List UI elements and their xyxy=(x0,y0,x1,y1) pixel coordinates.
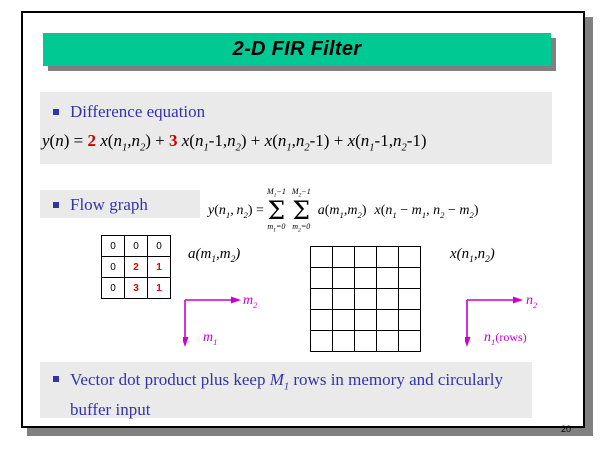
bullet-flow-graph: Flow graph xyxy=(53,194,148,216)
square-bullet-icon xyxy=(53,109,59,115)
square-bullet-icon xyxy=(53,376,59,382)
grid-cell xyxy=(311,310,333,331)
summation-m2: M2−1 Σ m2=0 xyxy=(292,188,311,234)
table-row: 0 2 1 xyxy=(102,257,171,278)
table-row xyxy=(311,268,421,289)
coef-cell: 3 xyxy=(125,278,148,299)
conclusion-var-M: M xyxy=(270,370,284,389)
grid-cell xyxy=(333,310,355,331)
summation-m1: M1−1 Σ m1=0 xyxy=(267,188,286,234)
input-grid-label: x(n1,n2) xyxy=(450,246,495,265)
grid-cell xyxy=(377,289,399,310)
axis-label-n1: n1(rows) xyxy=(484,330,527,347)
coef-cell: 0 xyxy=(148,236,171,257)
title-banner: 2-D FIR Filter xyxy=(43,33,551,66)
grid-cell xyxy=(355,289,377,310)
table-row: 0 3 1 xyxy=(102,278,171,299)
table-row xyxy=(311,310,421,331)
coefficient-grid: 0 0 0 0 2 1 0 3 1 xyxy=(101,235,171,299)
table-row xyxy=(311,289,421,310)
grid-cell xyxy=(355,310,377,331)
input-signal-grid xyxy=(310,246,421,352)
coefficient-a11: 2 xyxy=(87,131,96,150)
coef-cell: 1 xyxy=(148,257,171,278)
table-row: 0 0 0 xyxy=(102,236,171,257)
coefficient-a21: 3 xyxy=(169,131,178,150)
coefficient-grid-label: a(m1,m2) xyxy=(188,246,240,265)
grid-cell xyxy=(333,289,355,310)
axis-label-m1: m1 xyxy=(203,330,217,347)
conclusion-text: Vector dot product plus keep M1 rows in … xyxy=(70,368,522,421)
coef-cell: 0 xyxy=(125,236,148,257)
flow-graph-label: Flow graph xyxy=(70,195,148,215)
arrow-down-icon xyxy=(183,337,189,347)
grid-cell xyxy=(311,289,333,310)
grid-cell xyxy=(333,268,355,289)
sigma-icon: Σ xyxy=(292,199,310,223)
arrow-right-icon xyxy=(513,297,523,304)
grid-cell xyxy=(355,247,377,268)
grid-cell xyxy=(377,310,399,331)
grid-cell xyxy=(399,247,421,268)
coef-cell: 0 xyxy=(102,278,125,299)
coef-cell: 1 xyxy=(148,278,171,299)
sigma-icon: Σ xyxy=(268,199,286,223)
axis-note-rows: (rows) xyxy=(495,330,526,344)
square-bullet-icon xyxy=(53,202,59,208)
arrow-down-icon xyxy=(465,337,471,347)
grid-cell xyxy=(399,289,421,310)
axis-label-n2: n2 xyxy=(526,293,537,310)
bullet-difference-equation: Difference equation xyxy=(53,100,205,124)
arrow-right-icon xyxy=(231,297,241,304)
table-row xyxy=(311,331,421,352)
coef-cell: 2 xyxy=(125,257,148,278)
conclusion-line1-pre: Vector dot product plus keep xyxy=(70,370,270,389)
grid-cell xyxy=(399,310,421,331)
grid-cell xyxy=(377,331,399,352)
grid-cell xyxy=(311,268,333,289)
grid-cell xyxy=(333,247,355,268)
coef-cell: 0 xyxy=(102,236,125,257)
grid-cell xyxy=(377,247,399,268)
page-number: 20 xyxy=(561,424,571,434)
difference-equation-formula: y(n) = 2 x(n1,n2) + 3 x(n1-1,n2) + x(n1,… xyxy=(42,131,562,153)
difference-equation-label: Difference equation xyxy=(70,102,205,122)
axis-label-m2: m2 xyxy=(243,293,257,310)
bullet-conclusion: Vector dot product plus keep M1 rows in … xyxy=(53,368,522,421)
grid-cell xyxy=(355,331,377,352)
grid-cell xyxy=(333,331,355,352)
grid-cell xyxy=(311,247,333,268)
coef-cell: 0 xyxy=(102,257,125,278)
grid-cell xyxy=(377,268,399,289)
grid-cell xyxy=(399,331,421,352)
grid-cell xyxy=(399,268,421,289)
table-row xyxy=(311,247,421,268)
convolution-sum-formula: y(n1, n2) = M1−1 Σ m1=0 M2−1 Σ m2=0 a(m1… xyxy=(208,188,478,234)
page-title: 2-D FIR Filter xyxy=(233,38,362,61)
grid-cell xyxy=(355,268,377,289)
conclusion-line1-post: rows in memory xyxy=(289,370,405,389)
grid-cell xyxy=(311,331,333,352)
